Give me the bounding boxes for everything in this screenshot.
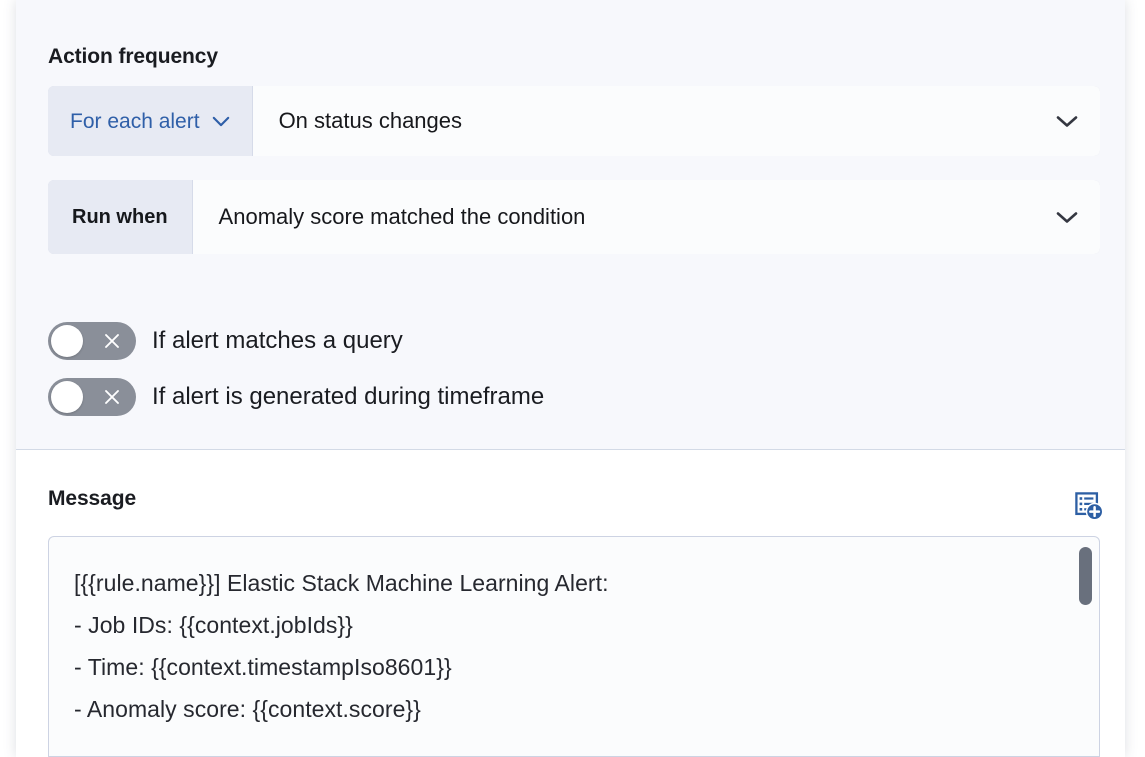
message-scrollbar-track[interactable] xyxy=(1079,544,1092,749)
for-each-alert-dropdown[interactable]: For each alert xyxy=(48,86,253,156)
action-frequency-heading: Action frequency xyxy=(48,43,218,71)
notify-when-select[interactable]: On status changes xyxy=(253,86,1100,156)
run-when-label-prepend: Run when xyxy=(48,180,193,254)
run-when-label: Run when xyxy=(72,207,168,227)
run-when-value: Anomaly score matched the condition xyxy=(219,206,586,228)
cross-icon xyxy=(103,332,121,350)
message-textarea-value: [{{rule.name}}] Elastic Stack Machine Le… xyxy=(74,562,1058,730)
run-when-select[interactable]: Anomaly score matched the condition xyxy=(193,180,1100,254)
notify-when-value: On status changes xyxy=(279,110,462,132)
message-heading: Message xyxy=(48,485,136,513)
cross-icon xyxy=(103,388,121,406)
add-variable-icon xyxy=(1074,491,1104,521)
alert-matches-query-toggle[interactable] xyxy=(48,322,136,360)
message-scrollbar-thumb[interactable] xyxy=(1079,547,1092,605)
alert-query-toggle-row: If alert matches a query xyxy=(48,322,403,360)
action-settings-panel: Action frequency For each alert On statu… xyxy=(16,0,1125,757)
toggle-knob xyxy=(51,381,83,413)
alert-matches-query-label: If alert matches a query xyxy=(152,329,403,353)
message-textarea[interactable]: [{{rule.name}}] Elastic Stack Machine Le… xyxy=(48,536,1100,757)
for-each-alert-label: For each alert xyxy=(70,111,200,132)
toggle-knob xyxy=(51,325,83,357)
chevron-down-icon xyxy=(1056,211,1078,224)
chevron-down-icon xyxy=(1056,115,1078,128)
add-variable-button[interactable] xyxy=(1069,486,1109,526)
alert-timeframe-toggle-row: If alert is generated during timeframe xyxy=(48,378,544,416)
alert-generated-during-timeframe-label: If alert is generated during timeframe xyxy=(152,385,544,409)
action-frequency-control-group: For each alert On status changes xyxy=(48,86,1100,156)
run-when-control-group: Run when Anomaly score matched the condi… xyxy=(48,180,1100,254)
alert-generated-during-timeframe-toggle[interactable] xyxy=(48,378,136,416)
chevron-down-icon xyxy=(212,116,230,127)
screen: Action frequency For each alert On statu… xyxy=(0,0,1145,757)
action-frequency-section: Action frequency For each alert On statu… xyxy=(16,0,1125,450)
